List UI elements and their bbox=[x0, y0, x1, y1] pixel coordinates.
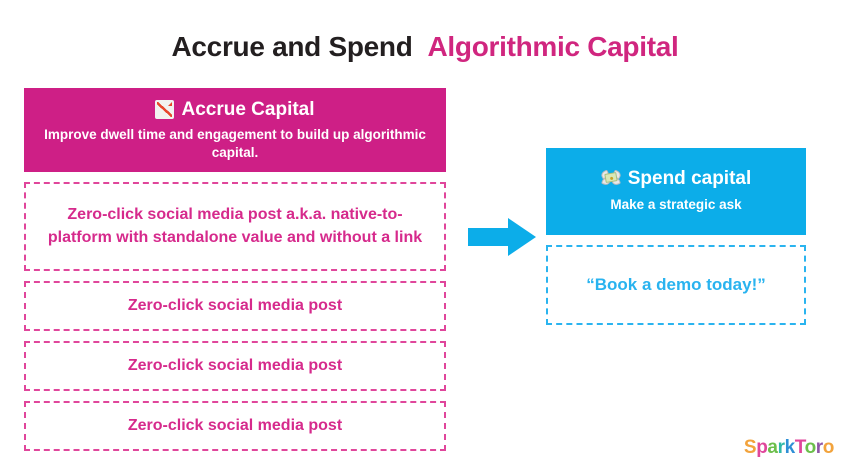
post-box-text: Zero-click social media post a.k.a. nati… bbox=[36, 204, 434, 249]
post-box-text: Zero-click social media post bbox=[128, 295, 342, 318]
spend-capital-header: Spend capital Make a strategic ask bbox=[546, 148, 806, 235]
accrue-capital-subtitle: Improve dwell time and engagement to bui… bbox=[38, 126, 432, 162]
logo-letter-1: p bbox=[756, 437, 767, 458]
accrue-capital-header: Accrue Capital Improve dwell time and en… bbox=[24, 88, 446, 172]
list-item: Zero-click social media post bbox=[24, 281, 446, 331]
accrue-capital-title: Accrue Capital bbox=[181, 98, 314, 122]
list-item: Zero-click social media post bbox=[24, 341, 446, 391]
post-box-text: Zero-click social media post bbox=[128, 415, 342, 438]
spend-capital-header-title-row: Spend capital bbox=[558, 168, 794, 191]
strategic-ask-text: “Book a demo today!” bbox=[586, 275, 765, 295]
accrue-capital-column: Accrue Capital Improve dwell time and en… bbox=[24, 88, 446, 451]
page-title-dark-part: Accrue and Spend bbox=[171, 31, 412, 62]
logo-letter-0: S bbox=[744, 437, 756, 458]
chart-increasing-icon bbox=[155, 100, 174, 119]
logo-letter-5: T bbox=[795, 437, 805, 458]
logo-letter-2: a bbox=[767, 437, 777, 458]
list-item: Zero-click social media post a.k.a. nati… bbox=[24, 182, 446, 271]
list-item: Zero-click social media post bbox=[24, 401, 446, 451]
spend-capital-subtitle: Make a strategic ask bbox=[558, 196, 794, 214]
page-title-pink-part: Algorithmic Capital bbox=[428, 31, 679, 62]
money-with-wings-icon bbox=[601, 170, 621, 188]
logo-letter-4: k bbox=[785, 437, 795, 458]
slide-canvas: Accrue and Spend Algorithmic Capital Acc… bbox=[0, 0, 850, 476]
spend-capital-title: Spend capital bbox=[628, 168, 752, 191]
logo-letter-3: r bbox=[778, 437, 785, 458]
strategic-ask-box: “Book a demo today!” bbox=[546, 245, 806, 325]
logo-letter-6: o bbox=[805, 437, 816, 458]
accrue-capital-header-title-row: Accrue Capital bbox=[38, 98, 432, 122]
spend-capital-column: Spend capital Make a strategic ask “Book… bbox=[546, 148, 806, 325]
logo-letter-8: o bbox=[823, 437, 834, 458]
sparktoro-logo: SparkToro bbox=[744, 437, 834, 459]
right-arrow-icon bbox=[468, 218, 536, 256]
page-title: Accrue and Spend Algorithmic Capital bbox=[0, 30, 850, 64]
logo-letter-7: r bbox=[816, 437, 823, 458]
post-box-text: Zero-click social media post bbox=[128, 355, 342, 378]
